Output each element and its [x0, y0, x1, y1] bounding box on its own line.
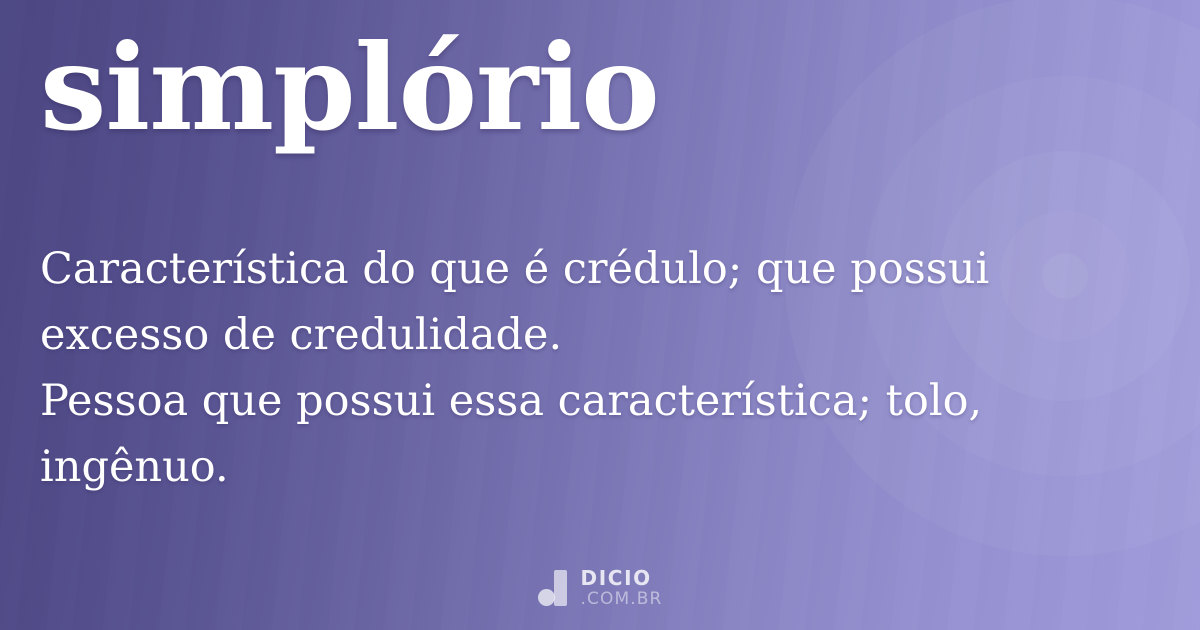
page-title: simplório [40, 18, 659, 157]
dicio-mark-icon [538, 570, 570, 606]
site-logo[interactable]: DICIO .COM.BR [0, 568, 1200, 608]
logo-inner: DICIO .COM.BR [538, 568, 663, 608]
logo-name: DICIO [581, 568, 663, 588]
definition-list: Característica do que é crédulo; que pos… [40, 236, 1040, 500]
logo-wordmark: DICIO .COM.BR [581, 568, 663, 608]
definition-card: simplório Característica do que é crédul… [0, 0, 1200, 630]
bar-shape-icon [554, 570, 567, 606]
circle-shape-icon [538, 589, 555, 606]
definition-item: Característica do que é crédulo; que pos… [40, 236, 1040, 368]
logo-tld: .COM.BR [581, 591, 663, 608]
definition-item: Pessoa que possui essa característica; t… [40, 368, 1040, 500]
ring-inner [1042, 253, 1088, 299]
